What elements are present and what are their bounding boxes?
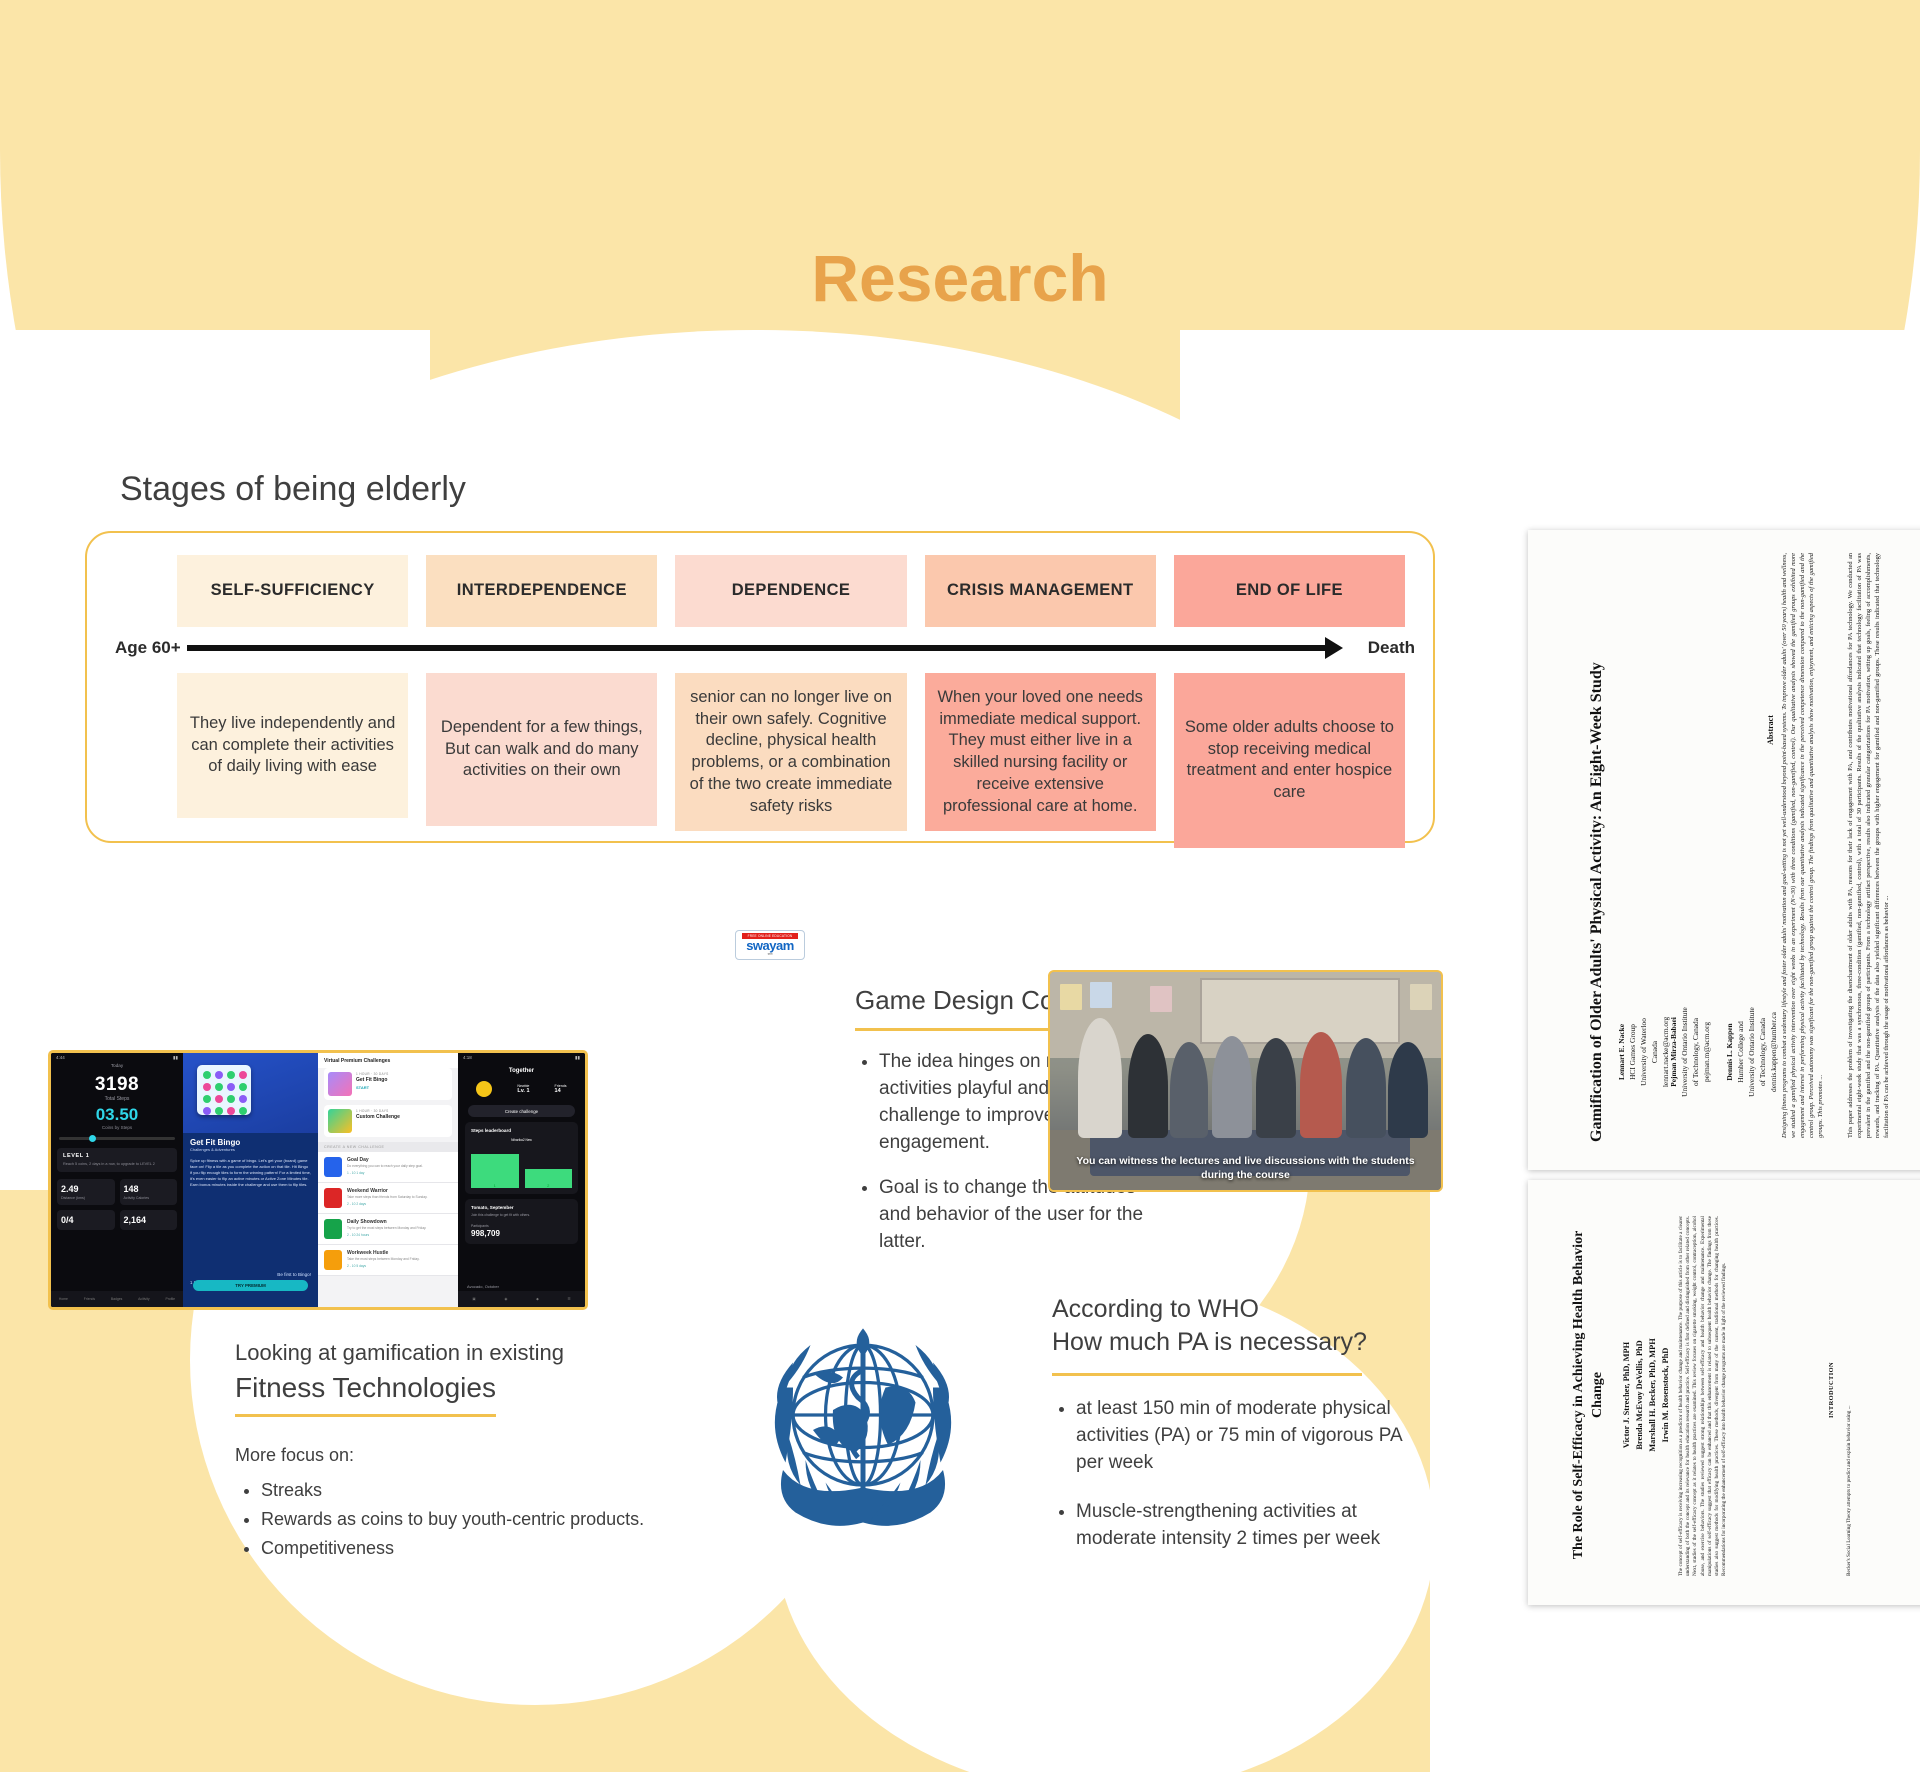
phone3-card1-meta: 1 HOUR · 30 DAYS bbox=[356, 1072, 389, 1076]
classroom-person-5 bbox=[1300, 1032, 1342, 1138]
stages-timeline-axis: Age 60+ Death bbox=[115, 629, 1405, 669]
phone1-nav-activity[interactable]: Acitivity bbox=[138, 1297, 150, 1301]
stage-label-end-of-life: END OF LIFE bbox=[1174, 555, 1405, 627]
phone4-challenge-desc: Join this challenge to get fit with othe… bbox=[471, 1213, 572, 1218]
fitness-caption-line2: Fitness Technologies bbox=[235, 1372, 496, 1417]
phone3-card2-meta: 1 HOUR · 30 DAYS bbox=[356, 1109, 400, 1113]
stages-heading: Stages of being elderly bbox=[120, 470, 1435, 509]
phone1-stat-grid: 2.49 Distance (kms) 148 Activity Calorie… bbox=[57, 1179, 177, 1230]
stage-label-crisis-management: CRISIS MANAGEMENT bbox=[925, 555, 1156, 627]
phone3-row2-meta: 2 - 10 24 hours bbox=[347, 1233, 426, 1237]
classroom-poster-3 bbox=[1150, 986, 1172, 1012]
phone3-row1-name: Weekend Warrior bbox=[347, 1188, 427, 1194]
classroom-poster-1 bbox=[1060, 984, 1082, 1010]
phone4-participants-value: 998,709 bbox=[471, 1229, 572, 1238]
stage-label-dependence: DEPENDENCE bbox=[675, 555, 906, 627]
paper2-author-2: Brenda McEvoy DeVellis, PhD bbox=[1635, 1340, 1644, 1449]
classroom-poster-2 bbox=[1090, 982, 1112, 1008]
phone4-newbie: Newbie Lv. 1 bbox=[517, 1084, 529, 1094]
who-rule bbox=[1052, 1373, 1362, 1376]
phone2-body: Spice up fitness with a game of bingo. L… bbox=[183, 1152, 318, 1194]
phone1-nav-home[interactable]: Home bbox=[59, 1297, 68, 1301]
phone1-bottom-nav[interactable]: Home Friends Badges Acitivity Profile bbox=[51, 1291, 183, 1307]
phone3-row0-desc: Do everything you can to reach your dail… bbox=[347, 1164, 423, 1169]
paper1-author3-name: Lennart E. Nacke bbox=[1617, 1024, 1626, 1080]
phone4-challenge-title: Tomato, September bbox=[471, 1205, 572, 1210]
fitness-bullet-rewards: Rewards as coins to buy youth-centric pr… bbox=[261, 1505, 795, 1534]
bingo-dots bbox=[197, 1065, 251, 1121]
phone1-stat-calories: 148 Activity Calories bbox=[120, 1179, 178, 1205]
who-title-line1: According to WHO bbox=[1052, 1295, 1412, 1324]
who-bullet-muscle-strength: Muscle-strengthening activities at moder… bbox=[1076, 1499, 1412, 1553]
fitness-app-screenshots: 4:44▮▮ Today 3198 Total Steps 03.50 Coin… bbox=[48, 1050, 588, 1310]
paper-scan-self-efficacy: The Role of Self-Efficacy in Achieving H… bbox=[1528, 1180, 1920, 1605]
phone3-challenge-card-2[interactable]: 1 HOUR · 30 DAYS Custom Challenge bbox=[324, 1105, 452, 1137]
phone3-row-weekend-warrior[interactable]: Weekend Warrior Take more steps than fri… bbox=[318, 1183, 458, 1214]
phone2-try-premium-button[interactable]: TRY PREMIUM bbox=[193, 1280, 308, 1291]
stage-desc-interdependence: Dependent for a few things, But can walk… bbox=[426, 673, 657, 826]
custom-challenge-thumb-icon bbox=[328, 1109, 352, 1133]
phone1-nav-profile[interactable]: Profile bbox=[165, 1297, 175, 1301]
trophy-icon bbox=[476, 1081, 492, 1097]
paper-scan-gamification: Gamification of Older Adults' Physical A… bbox=[1528, 530, 1920, 1170]
who-bullet-moderate-pa: at least 150 min of moderate physical ac… bbox=[1076, 1396, 1412, 1477]
phone1-coins-value: 03.50 bbox=[51, 1105, 183, 1125]
fitness-bullet-competitiveness: Competitiveness bbox=[261, 1534, 795, 1563]
phone1-stat-d: 2,164 bbox=[120, 1210, 178, 1230]
phone1-distance-label: Distance (kms) bbox=[61, 1196, 111, 1200]
phone4-bar-2: 2 bbox=[525, 1169, 573, 1188]
phone1-level-title: LEVEL 1 bbox=[63, 1153, 171, 1159]
paper1-abstract-heading: Abstract bbox=[1766, 630, 1775, 830]
who-title-line2: How much PA is necessary? bbox=[1052, 1328, 1412, 1357]
phone1-today-label: Today bbox=[51, 1063, 183, 1068]
axis-arrow-icon bbox=[1325, 637, 1343, 659]
phone3-row-daily-showdown[interactable]: Daily Showdown Try to get the most steps… bbox=[318, 1214, 458, 1245]
phone4-next-challenge: Avocado, October bbox=[467, 1284, 499, 1289]
paper1-author1-l2: University of Ontario Institute bbox=[1747, 1007, 1756, 1097]
phone1-stat-d-value: 2,164 bbox=[124, 1215, 174, 1225]
fitness-bullet-list: Streaks Rewards as coins to buy youth-ce… bbox=[261, 1476, 795, 1562]
stages-label-row: SELF-SUFFICIENCY INTERDEPENDENCE DEPENDE… bbox=[177, 555, 1405, 627]
paper1-author1-l3: of Technology, Canada bbox=[1758, 1018, 1767, 1086]
poster-canvas: Research Stages of being elderly SELF-SU… bbox=[0, 0, 1920, 1772]
stage-label-self-sufficiency: SELF-SUFFICIENCY bbox=[177, 555, 408, 627]
phone4-bottom-nav[interactable]: ▣◉◆☰ bbox=[458, 1291, 585, 1307]
phone3-card1-start-link[interactable]: START bbox=[356, 1085, 389, 1090]
phone3-card2-name: Custom Challenge bbox=[356, 1114, 400, 1120]
who-bullet-list: at least 150 min of moderate physical ac… bbox=[1076, 1396, 1412, 1553]
paper1-author2-l1: University of Ontario Institute bbox=[1680, 1007, 1689, 1097]
phone4-leader-name: Niharika2 New bbox=[471, 1138, 572, 1142]
paper1-author1-l1: Humber College and bbox=[1736, 1021, 1745, 1083]
paper2-author-4: Irwin M. Rosenstock, PhD bbox=[1661, 1348, 1670, 1443]
stage-desc-end-of-life: Some older adults choose to stop receivi… bbox=[1174, 673, 1405, 848]
axis-end-label: Death bbox=[1368, 638, 1415, 658]
phone-screenshot-3: Virtual Premium Challenges 1 HOUR · 30 D… bbox=[318, 1053, 458, 1307]
stages-card: SELF-SUFFICIENCY INTERDEPENDENCE DEPENDE… bbox=[85, 531, 1435, 843]
paper1-author2-l2: of Technology, Canada bbox=[1691, 1018, 1700, 1086]
phone1-nav-badges[interactable]: Badges bbox=[111, 1297, 123, 1301]
phone3-section-header: CREATE A NEW CHALLENGE bbox=[318, 1142, 458, 1152]
goal-day-badge-icon bbox=[324, 1157, 342, 1177]
classroom-person-6 bbox=[1346, 1038, 1386, 1138]
page-title: Research bbox=[0, 240, 1920, 316]
phone-screenshot-4: 4:18▮▮ Together Newbie Lv. 1 Friends 14 … bbox=[458, 1053, 585, 1307]
paper2-title: The Role of Self-Efficacy in Achieving H… bbox=[1570, 1210, 1608, 1580]
phone1-coins-label: Coins by Steps bbox=[51, 1125, 183, 1130]
paper1-author3-l1: HCI Games Group bbox=[1628, 1024, 1637, 1080]
phone4-level-row: Newbie Lv. 1 Friends 14 bbox=[458, 1078, 585, 1100]
phone4-challenge-panel[interactable]: Tomato, September Join this challenge to… bbox=[465, 1199, 578, 1244]
bingo-card-icon bbox=[197, 1065, 251, 1115]
phone3-challenge-card-1[interactable]: 1 HOUR · 30 DAYS Get Fit Bingo START bbox=[324, 1068, 452, 1100]
paper1-author3-l3: Canada bbox=[1650, 1041, 1659, 1063]
stage-desc-dependence: senior can no longer live on their own s… bbox=[675, 673, 906, 832]
phone2-hero bbox=[183, 1053, 318, 1133]
stage-label-interdependence: INTERDEPENDENCE bbox=[426, 555, 657, 627]
who-logo-icon bbox=[738, 1300, 988, 1550]
phone1-stat-c-value: 0/4 bbox=[61, 1215, 111, 1225]
phone1-nav-friends[interactable]: Friends bbox=[84, 1297, 95, 1301]
paper2-author-1: Victor J. Strecher, PhD, MPH bbox=[1622, 1342, 1631, 1448]
phone1-steps: 3198 Total Steps bbox=[51, 1074, 183, 1102]
phone1-stat-distance: 2.49 Distance (kms) bbox=[57, 1179, 115, 1205]
phone1-steps-value: 3198 bbox=[51, 1074, 183, 1096]
paper1-author3-l2: University of Waterloo bbox=[1639, 1018, 1648, 1086]
paper1-author-2: Pejman Mirza-Babaei University of Ontari… bbox=[1668, 962, 1712, 1142]
phone4-leaderboard-panel: Steps leaderboard Niharika2 New 1 2 bbox=[465, 1122, 578, 1194]
classroom-person-1 bbox=[1128, 1034, 1168, 1138]
phone1-calories-label: Activity Calories bbox=[124, 1196, 174, 1200]
phone3-row0-meta: 1 - 10 1 day bbox=[347, 1171, 423, 1175]
phone4-friends: Friends 14 bbox=[555, 1084, 567, 1094]
stages-description-row: They live independently and can complete… bbox=[177, 673, 1405, 848]
phone3-card1-name: Get Fit Bingo bbox=[356, 1077, 389, 1083]
phone1-distance-value: 2.49 bbox=[61, 1184, 111, 1194]
phone3-row-goal-day[interactable]: Goal Day Do everything you can to reach … bbox=[318, 1152, 458, 1183]
phone1-steps-label: Total Steps bbox=[51, 1096, 183, 1102]
workweek-hustle-badge-icon bbox=[324, 1250, 342, 1270]
paper1-author2-l3: pejman.m@acm.org bbox=[1702, 1022, 1711, 1082]
phone4-leaderboard-bars: 1 2 bbox=[471, 1154, 572, 1188]
phone2-goal-value: Be first to Bingo! bbox=[190, 1272, 311, 1277]
daily-showdown-badge-icon bbox=[324, 1219, 342, 1239]
phone3-header: Virtual Premium Challenges bbox=[318, 1053, 458, 1068]
fitness-more-focus-label: More focus on: bbox=[235, 1445, 795, 1466]
phone1-stat-c: 0/4 bbox=[57, 1210, 115, 1230]
phone3-row3-meta: 2 - 10 5 days bbox=[347, 1264, 420, 1268]
classroom-photo-caption: You can witness the lectures and live di… bbox=[1050, 1154, 1441, 1182]
phone4-newbie-value: Lv. 1 bbox=[517, 1088, 529, 1094]
phone1-level-desc: Reach 5 coins, 2 days in a row, to upgra… bbox=[63, 1162, 171, 1167]
phone1-calories-value: 148 bbox=[124, 1184, 174, 1194]
phone3-row1-meta: 2 - 10 2 days bbox=[347, 1202, 427, 1206]
challenge-thumb-icon bbox=[328, 1072, 352, 1096]
phone4-leaderboard-title: Steps leaderboard bbox=[471, 1128, 572, 1133]
axis-start-label: Age 60+ bbox=[115, 638, 181, 658]
paper1-author-3: Lennart E. Nacke HCI Games Group Univers… bbox=[1616, 962, 1672, 1142]
paper1-author1-l4: dennis.kappen@humber.ca bbox=[1769, 1012, 1778, 1092]
phone1-level-card: LEVEL 1 Reach 5 coins, 2 days in a row, … bbox=[57, 1148, 177, 1172]
classroom-person-3 bbox=[1212, 1036, 1252, 1138]
who-text-block: According to WHO How much PA is necessar… bbox=[1052, 1295, 1412, 1575]
phone4-create-challenge-button[interactable]: Create challenge bbox=[468, 1105, 575, 1117]
phone1-statusbar: 4:44▮▮ bbox=[51, 1053, 183, 1063]
phone3-row2-name: Daily Showdown bbox=[347, 1219, 426, 1225]
phone4-friends-value: 14 bbox=[555, 1088, 567, 1094]
paper2-author-3: Marshall H. Becker, PhD, MPH bbox=[1648, 1338, 1657, 1451]
phone3-row2-desc: Try to get the most steps between Monday… bbox=[347, 1226, 426, 1231]
phone2-title: Get Fit Bingo bbox=[183, 1133, 318, 1147]
paper1-author1-name: Dennis L. Kappen bbox=[1725, 1023, 1734, 1080]
classroom-person-7 bbox=[1388, 1042, 1428, 1138]
phone3-row0-name: Goal Day bbox=[347, 1157, 423, 1163]
classroom-whiteboard bbox=[1200, 978, 1400, 1044]
paper1-title: Gamification of Older Adults' Physical A… bbox=[1588, 542, 1606, 1142]
stage-desc-self-sufficiency: They live independently and can complete… bbox=[177, 673, 408, 818]
paper1-author-1: Dennis L. Kappen Humber College and Univ… bbox=[1724, 962, 1780, 1142]
phone4-bar-1: 1 bbox=[471, 1154, 519, 1188]
phone3-row3-name: Workweek Hustle bbox=[347, 1250, 420, 1256]
paper2-intro-body: Becker's Social Learning Theory attempts… bbox=[1846, 1376, 1853, 1576]
classroom-photo: You can witness the lectures and live di… bbox=[1048, 970, 1443, 1192]
paper2-authors: Victor J. Strecher, PhD, MPH Brenda McEv… bbox=[1620, 1210, 1672, 1580]
phone-screenshot-2: Get Fit Bingo Challenges & Adventures Sp… bbox=[183, 1053, 318, 1307]
phone3-row1-desc: Take more steps than friends from Saturd… bbox=[347, 1195, 427, 1200]
stage-desc-crisis-management: When your loved one needs immediate medi… bbox=[925, 673, 1156, 832]
phone3-row3-desc: Take the most steps between Monday and F… bbox=[347, 1257, 420, 1262]
classroom-person-4 bbox=[1256, 1038, 1296, 1138]
phone4-title: Together bbox=[458, 1063, 585, 1078]
classroom-poster-4 bbox=[1410, 984, 1432, 1010]
fitness-caption-line1: Looking at gamification in existing bbox=[235, 1340, 795, 1366]
paper2-abstract-body: The concept of self-efficacy is receivin… bbox=[1678, 1216, 1728, 1576]
paper1-abstract-left: Designing fitness programs to combat a s… bbox=[1780, 553, 1825, 1138]
classroom-person-instructor bbox=[1078, 1018, 1122, 1138]
weekend-warrior-badge-icon bbox=[324, 1188, 342, 1208]
axis-line bbox=[187, 645, 1327, 651]
stages-section: Stages of being elderly SELF-SUFFICIENCY… bbox=[85, 470, 1435, 843]
paper2-intro-heading: INTRODUCTION bbox=[1828, 1300, 1835, 1480]
swayam-logo-icon: FREE ONLINE EDUCATION swayam स्वयं bbox=[735, 930, 805, 960]
paper1-author2-name: Pejman Mirza-Babaei bbox=[1669, 1017, 1678, 1087]
phone4-statusbar: 4:18▮▮ bbox=[458, 1053, 585, 1063]
paper1-abstract-right: This paper addresses the problem of inve… bbox=[1846, 553, 1891, 1138]
phone1-progress-slider[interactable] bbox=[59, 1137, 175, 1140]
swayam-logo-word: swayam bbox=[736, 939, 804, 952]
phone3-row-workweek-hustle[interactable]: Workweek Hustle Take the most steps betw… bbox=[318, 1245, 458, 1276]
classroom-person-2 bbox=[1170, 1042, 1208, 1138]
fitness-caption-block: Looking at gamification in existing Fitn… bbox=[235, 1340, 795, 1562]
fitness-bullet-streaks: Streaks bbox=[261, 1476, 795, 1505]
phone-screenshot-1: 4:44▮▮ Today 3198 Total Steps 03.50 Coin… bbox=[51, 1053, 183, 1307]
